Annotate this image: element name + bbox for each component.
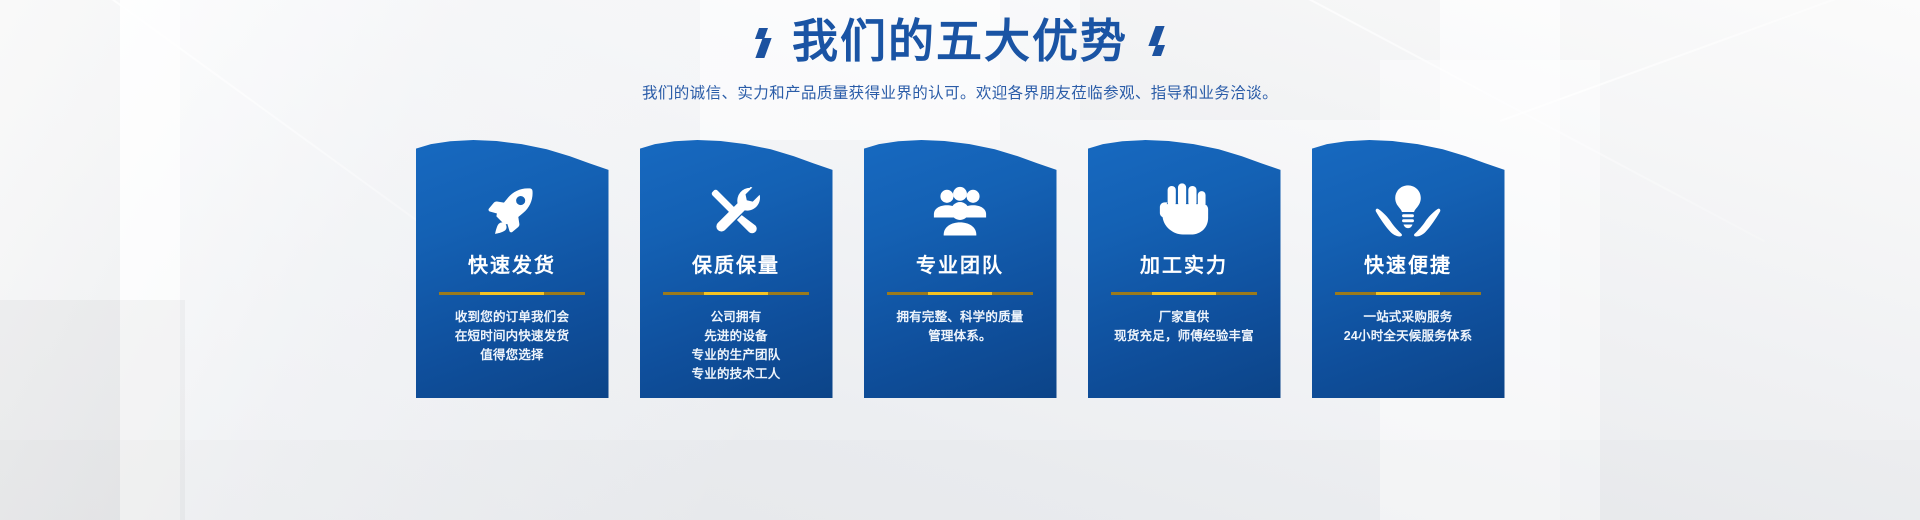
card-divider xyxy=(663,292,809,295)
page-subtitle: 我们的诚信、实力和产品质量获得业界的认可。欢迎各界朋友莅临参观、指导和业务洽谈。 xyxy=(0,81,1920,103)
advantage-card-title: 专业团队 xyxy=(916,256,1004,276)
advantage-card-desc: 收到您的订单我们会 在短时间内快速发货 值得您选择 xyxy=(455,308,569,365)
advantage-card-title: 快速便捷 xyxy=(1364,256,1452,276)
team-icon xyxy=(929,182,991,240)
advantage-card-title: 保质保量 xyxy=(692,256,780,276)
advantage-card-title: 快速发货 xyxy=(468,256,556,276)
card-divider xyxy=(1335,292,1481,295)
advantage-card-list: 快速发货 收到您的订单我们会 在短时间内快速发货 值得您选择 保质保量 公司拥有… xyxy=(0,140,1920,398)
title-decor-left-icon xyxy=(757,18,768,64)
hands-bulb-icon xyxy=(1375,182,1441,240)
tools-icon xyxy=(707,182,765,240)
section-header: 我们的五大优势 我们的诚信、实力和产品质量获得业界的认可。欢迎各界朋友莅临参观、… xyxy=(0,16,1920,103)
card-divider xyxy=(439,292,585,295)
advantage-card-desc: 一站式采购服务 24小时全天候服务体系 xyxy=(1344,308,1473,346)
advantage-card[interactable]: 加工实力 厂家直供 现货充足，师傅经验丰富 xyxy=(1088,140,1281,398)
advantage-card-title: 加工实力 xyxy=(1140,256,1228,276)
advantage-card[interactable]: 专业团队 拥有完整、科学的质量 管理体系。 xyxy=(864,140,1057,398)
card-divider xyxy=(887,292,1033,295)
rocket-icon xyxy=(484,182,540,240)
card-divider xyxy=(1111,292,1257,295)
advantage-card-desc: 公司拥有 先进的设备 专业的生产团队 专业的技术工人 xyxy=(692,308,781,384)
title-row: 我们的五大优势 xyxy=(0,16,1920,67)
title-decor-right-icon xyxy=(1152,18,1163,64)
advantage-card[interactable]: 保质保量 公司拥有 先进的设备 专业的生产团队 专业的技术工人 xyxy=(640,140,833,398)
advantage-card-desc: 拥有完整、科学的质量 管理体系。 xyxy=(896,308,1023,346)
advantage-card[interactable]: 快速便捷 一站式采购服务 24小时全天候服务体系 xyxy=(1312,140,1505,398)
fist-icon xyxy=(1159,182,1209,240)
advantage-card-desc: 厂家直供 现货充足，师傅经验丰富 xyxy=(1114,308,1254,346)
advantage-card[interactable]: 快速发货 收到您的订单我们会 在短时间内快速发货 值得您选择 xyxy=(416,140,609,398)
page-title: 我们的五大优势 xyxy=(792,16,1128,67)
